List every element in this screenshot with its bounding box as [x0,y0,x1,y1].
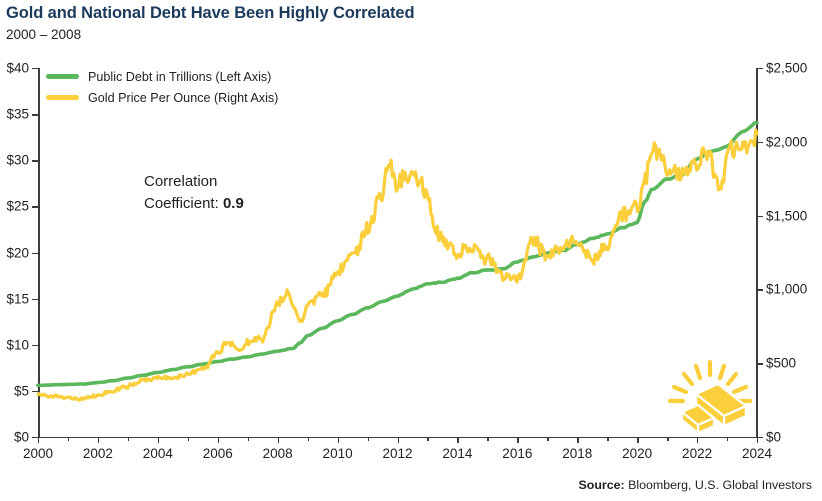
x-axis-tick [278,437,279,443]
x-axis-tick [338,437,339,443]
x-axis-tick [517,437,518,443]
x-axis-label: 2014 [442,446,472,461]
correlation-value: 0.9 [223,195,244,212]
y-axis-right-label: $500 [766,356,796,371]
x-axis-label: 2010 [323,446,353,461]
correlation-line-1: Correlation [144,171,244,193]
source-text: Bloomberg, U.S. Global Investors [628,478,812,492]
correlation-annotation: Correlation Coefficient: 0.9 [144,171,244,215]
y-axis-left-label: $40 [6,61,29,76]
x-axis-tick [218,437,219,443]
page-title: Gold and National Debt Have Been Highly … [6,4,415,23]
legend-swatch-gold [46,95,79,100]
source-note: Source: Bloomberg, U.S. Global Investors [579,478,812,492]
y-axis-left-label: $20 [6,245,29,260]
chart-subtitle: 2000 – 2008 [6,27,81,42]
y-axis-left-label: $0 [14,430,29,445]
x-axis-tick [98,437,99,443]
x-axis-label: 2020 [622,446,652,461]
y-axis-left-label: $30 [6,153,29,168]
y-axis-right-tick [757,68,763,69]
x-axis-label: 2018 [562,446,592,461]
y-axis-right-label: $0 [766,430,781,445]
y-axis-left-label: $5 [14,383,29,398]
y-axis-right-tick [757,289,763,290]
x-axis-minor-tick [188,437,189,441]
y-axis-left-label: $35 [6,107,29,122]
x-axis-tick [637,437,638,443]
y-axis-left-label: $25 [6,199,29,214]
correlation-label: Coefficient: [144,195,219,212]
chart-legend: Public Debt in Trillions (Left Axis) Gol… [46,66,278,108]
x-axis-label: 2022 [682,446,712,461]
source-label: Source: [579,478,625,492]
x-axis-minor-tick [427,437,428,441]
x-axis-label: 2024 [742,446,772,461]
x-axis-minor-tick [487,437,488,441]
x-axis-tick [457,437,458,443]
x-axis-minor-tick [68,437,69,441]
x-axis-label: 2012 [382,446,412,461]
y-axis-right-tick [757,142,763,143]
x-axis-tick [158,437,159,443]
x-axis-minor-tick [547,437,548,441]
x-axis-label: 2008 [263,446,293,461]
x-axis-minor-tick [308,437,309,441]
legend-label-debt: Public Debt in Trillions (Left Axis) [88,70,271,84]
x-axis-label: 2006 [203,446,233,461]
x-axis-label: 2002 [83,446,113,461]
x-axis-tick [577,437,578,443]
legend-item-gold[interactable]: Gold Price Per Ounce (Right Axis) [46,87,278,108]
y-axis-right-label: $2,000 [766,134,807,149]
legend-swatch-debt [46,74,79,79]
x-axis-label: 2016 [502,446,532,461]
y-axis-left-label: $10 [6,337,29,352]
y-axis-right-label: $1,500 [766,208,807,223]
x-axis-minor-tick [368,437,369,441]
x-axis-minor-tick [607,437,608,441]
y-axis-right-label: $2,500 [766,61,807,76]
y-axis-right-label: $1,000 [766,282,807,297]
series-lines [38,68,757,437]
correlation-line-2: Coefficient: 0.9 [144,193,244,215]
legend-label-gold: Gold Price Per Ounce (Right Axis) [88,91,278,105]
plot-area [38,68,757,437]
x-axis-tick [38,437,39,443]
legend-item-debt[interactable]: Public Debt in Trillions (Left Axis) [46,66,278,87]
chart-container: Gold and National Debt Have Been Highly … [0,0,822,501]
gold-bars-icon [660,358,760,438]
x-axis-label: 2004 [143,446,173,461]
x-axis-minor-tick [128,437,129,441]
x-axis-tick [398,437,399,443]
x-axis-label: 2000 [23,446,53,461]
x-axis-minor-tick [248,437,249,441]
y-axis-left-label: $15 [6,291,29,306]
y-axis-right-tick [757,216,763,217]
